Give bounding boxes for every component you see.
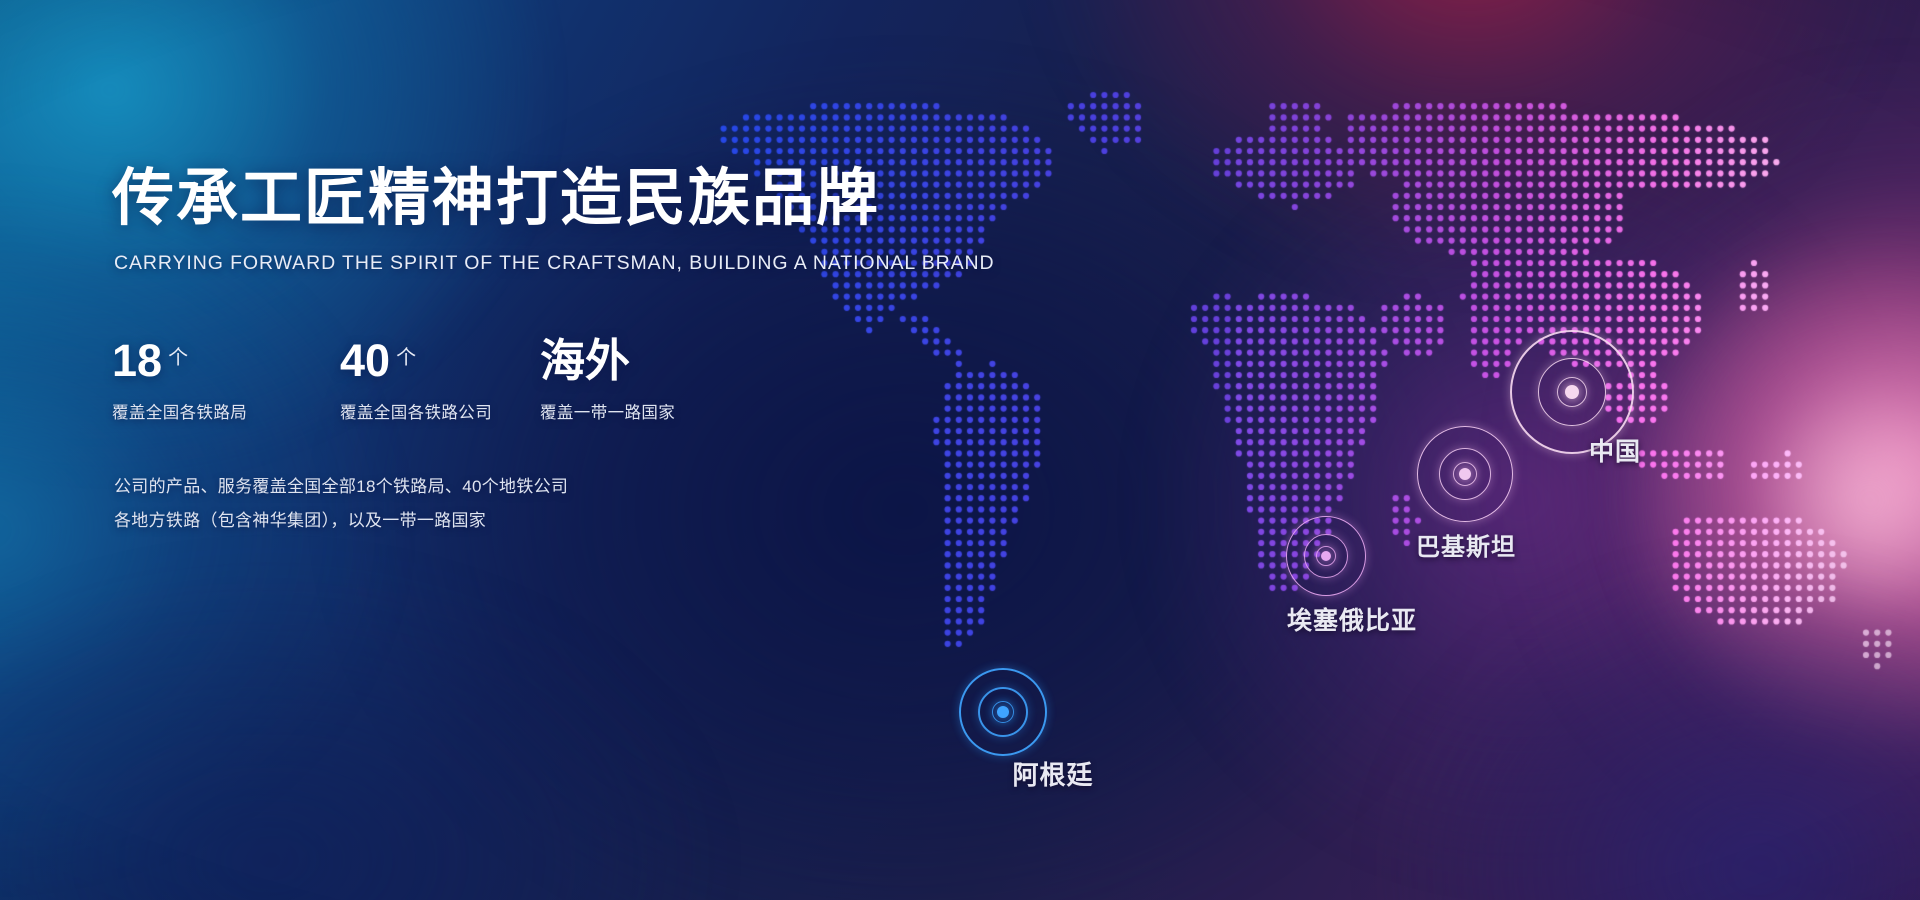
stat-value-group-1: 40 个 [340,338,492,383]
stat-item-0: 18 个 覆盖全国各铁路局 [112,338,247,423]
map-marker-label-ethiopia: 埃塞俄比亚 [1287,601,1417,637]
hero-banner: 中国巴基斯坦埃塞俄比亚阿根廷 传承工匠精神打造民族品牌 CARRYING FOR… [0,0,1920,900]
description-paragraph: 公司的产品、服务覆盖全国全部18个铁路局、40个地铁公司 各地方铁路（包含神华集… [114,470,568,538]
stat-item-2: 海外 覆盖一带一路国家 [540,338,675,423]
stat-number-0: 18 [112,338,162,383]
map-marker-label-china: 中国 [1589,432,1641,468]
stat-number-2: 海外 [540,338,630,383]
stat-desc-1: 覆盖全国各铁路公司 [340,399,492,423]
description-line-1: 公司的产品、服务覆盖全国全部18个铁路局、40个地铁公司 [114,470,568,504]
hero-content: 传承工匠精神打造民族品牌 CARRYING FORWARD THE SPIRIT… [112,0,942,900]
stat-value-group-2: 海外 [540,338,675,383]
stat-desc-0: 覆盖全国各铁路局 [112,399,247,423]
stat-unit-0: 个 [168,348,188,368]
stat-unit-1: 个 [396,348,416,368]
page-title: 传承工匠精神打造民族品牌 [112,168,880,230]
stat-number-1: 40 [340,338,390,383]
description-line-2: 各地方铁路（包含神华集团），以及一带一路国家 [114,504,568,538]
map-marker-label-argentina: 阿根廷 [1012,755,1093,792]
stat-desc-2: 覆盖一带一路国家 [540,399,675,423]
map-marker-label-pakistan: 巴基斯坦 [1416,527,1516,562]
stat-value-group-0: 18 个 [112,338,247,383]
page-subtitle: CARRYING FORWARD THE SPIRIT OF THE CRAFT… [114,252,995,275]
stat-item-1: 40 个 覆盖全国各铁路公司 [340,338,492,423]
